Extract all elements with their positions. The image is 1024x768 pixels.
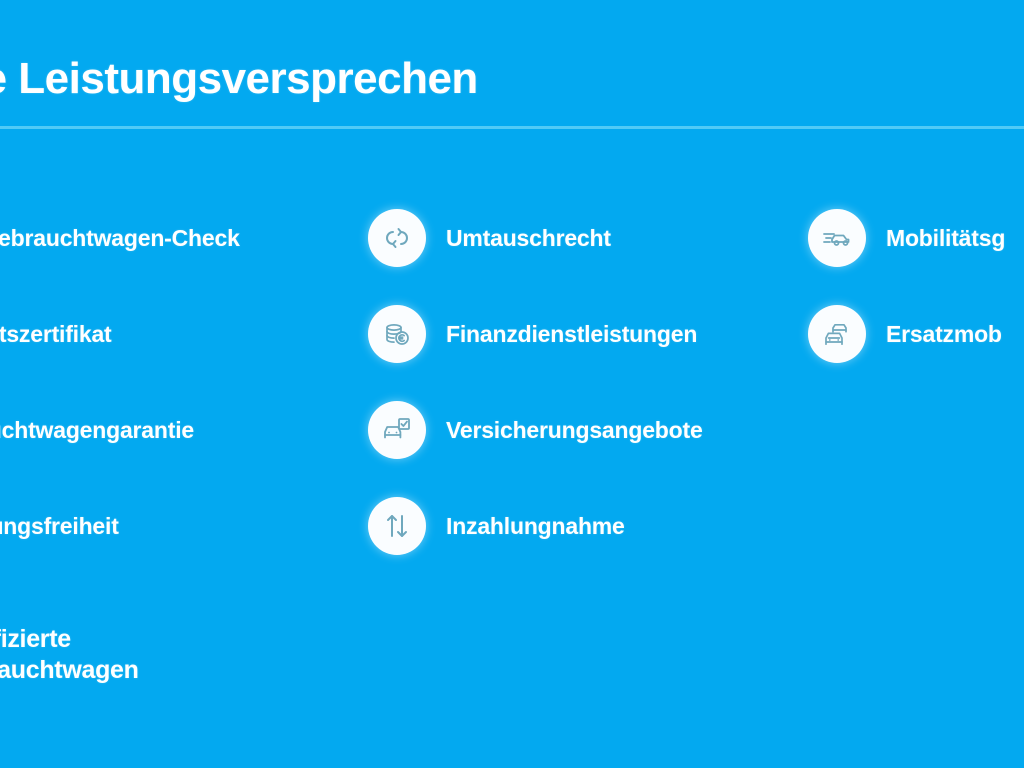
feature-item-versicherungsangebote[interactable]: Versicherungsangebote (368, 382, 788, 478)
feature-label: Versicherungsangebote (446, 417, 703, 444)
header-divider (0, 126, 1024, 129)
slide-canvas: ere Leistungsversprechen 60° Gebrauchtwa… (0, 0, 1024, 768)
feature-item-wartungsfreiheit[interactable]: Wartungsfreiheit (0, 478, 360, 574)
feature-label: Finanzdienstleistungen (446, 321, 697, 348)
feature-column-left: 60° Gebrauchtwagen-Check ualitätszertifi… (0, 190, 360, 574)
feature-item-umtauschrecht[interactable]: Umtauschrecht (368, 190, 788, 286)
feature-label: ualitätszertifikat (0, 321, 112, 348)
feature-item-gebrauchtwagengarantie[interactable]: ebrauchtwagengarantie (0, 382, 360, 478)
car-speed-icon (808, 209, 866, 267)
feature-item-qualitaetszertifikat[interactable]: ualitätszertifikat (0, 286, 360, 382)
feature-item-finanzdienstleistungen[interactable]: Finanzdienstleistungen (368, 286, 788, 382)
feature-label: Mobilitätsg (886, 225, 1005, 252)
coins-euro-icon (368, 305, 426, 363)
feature-label: Umtauschrecht (446, 225, 611, 252)
feature-label: Inzahlungnahme (446, 513, 625, 540)
feature-label: ebrauchtwagengarantie (0, 417, 194, 444)
feature-item-gebrauchtwagen-check[interactable]: 60° Gebrauchtwagen-Check (0, 190, 360, 286)
feature-label: Wartungsfreiheit (0, 513, 119, 540)
page-title: ere Leistungsversprechen (0, 56, 478, 102)
up-down-arrows-icon (368, 497, 426, 555)
footer-caption: Zertifizierte Gebrauchtwagen (0, 624, 139, 687)
feature-label: Ersatzmob (886, 321, 1002, 348)
feature-item-ersatzmobilitaet[interactable]: Ersatzmob (808, 286, 1024, 382)
feature-label: 60° Gebrauchtwagen-Check (0, 225, 240, 252)
footer-caption-line-1: Zertifizierte (0, 624, 139, 655)
feature-item-inzahlungnahme[interactable]: Inzahlungnahme (368, 478, 788, 574)
two-cars-icon (808, 305, 866, 363)
exchange-arrows-icon (368, 209, 426, 267)
feature-column-right: Mobilitätsg Ersatzmob (808, 190, 1024, 382)
feature-item-mobilitaetsgarantie[interactable]: Mobilitätsg (808, 190, 1024, 286)
footer-caption-line-2: Gebrauchtwagen (0, 655, 139, 686)
feature-column-middle: Umtauschrecht Finanzdienstleistungen (368, 190, 788, 574)
car-checklist-icon (368, 401, 426, 459)
